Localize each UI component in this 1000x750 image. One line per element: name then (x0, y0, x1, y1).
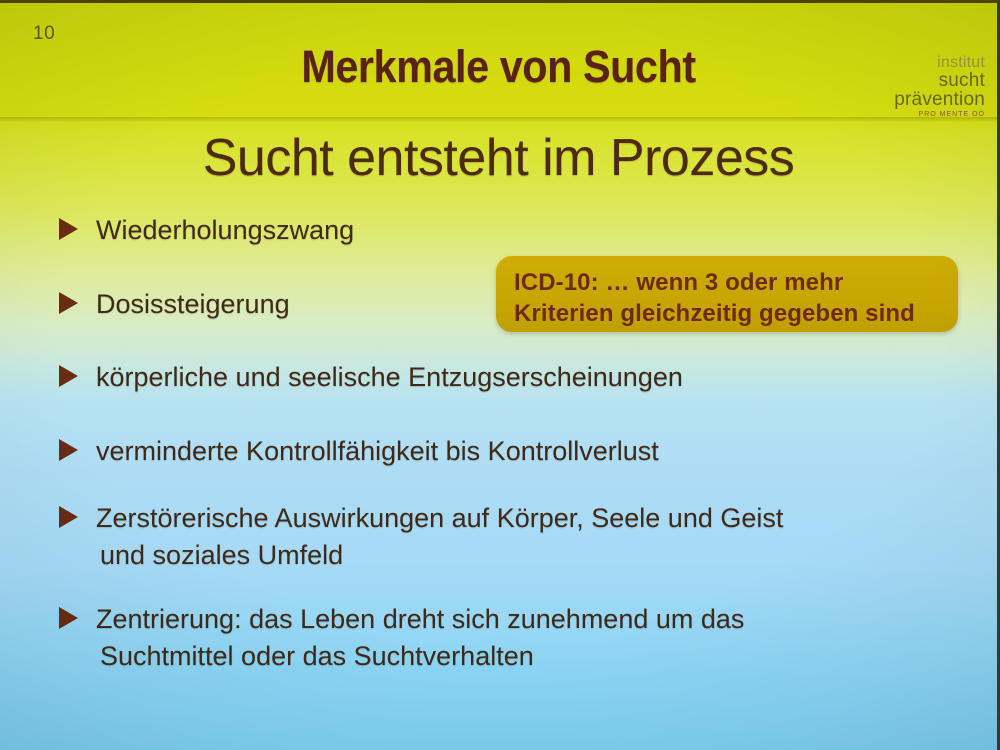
logo-line-pro-mente: PRO MENTE OÖ (860, 111, 985, 118)
bullet-text: Wiederholungszwang (96, 215, 354, 245)
bullet-text-continuation: Suchtmittel oder das Suchtverhalten (96, 641, 938, 673)
logo-line-sucht: sucht (860, 71, 985, 90)
bullet-text: Dosissteigerung (96, 289, 290, 319)
callout-line-1: ICD-10: … wenn 3 oder mehr (514, 267, 958, 298)
list-item: verminderte Kontrollfähigkeit bis Kontro… (58, 436, 938, 468)
bullet-text: körperliche und seelische Entzugserschei… (96, 362, 683, 392)
bullet-text: Zerstörerische Auswirkungen auf Körper, … (96, 503, 783, 533)
bullet-text: Zentrierung: das Leben dreht sich zunehm… (96, 604, 744, 634)
triangle-right-icon (59, 439, 78, 461)
list-item: körperliche und seelische Entzugserschei… (58, 362, 938, 394)
slide-subtitle: Sucht entsteht im Prozess (0, 128, 997, 188)
triangle-right-icon (59, 506, 78, 528)
triangle-right-icon (59, 292, 78, 314)
bullet-text: verminderte Kontrollfähigkeit bis Kontro… (96, 436, 659, 466)
list-item: Wiederholungszwang (58, 215, 938, 247)
callout-line-2: Kriterien gleichzeitig gegeben sind (514, 298, 958, 329)
presentation-slide: 10 Merkmale von Sucht institut sucht prä… (0, 0, 1000, 750)
header-band-edge (0, 117, 997, 122)
logo-line-institut: institut (860, 55, 985, 71)
triangle-right-icon (59, 218, 78, 240)
slide-header-title: Merkmale von Sucht (40, 41, 957, 93)
bullet-text-continuation: und soziales Umfeld (96, 540, 938, 572)
list-item: Zentrierung: das Leben dreht sich zunehm… (58, 604, 938, 673)
logo-line-praevention: prävention (860, 90, 985, 109)
triangle-right-icon (59, 365, 78, 387)
triangle-right-icon (59, 607, 78, 629)
icd-10-callout-box: ICD-10: … wenn 3 oder mehr Kriterien gle… (496, 256, 958, 332)
list-item: Zerstörerische Auswirkungen auf Körper, … (58, 503, 938, 572)
organization-logo: institut sucht prävention PRO MENTE OÖ (860, 55, 985, 118)
